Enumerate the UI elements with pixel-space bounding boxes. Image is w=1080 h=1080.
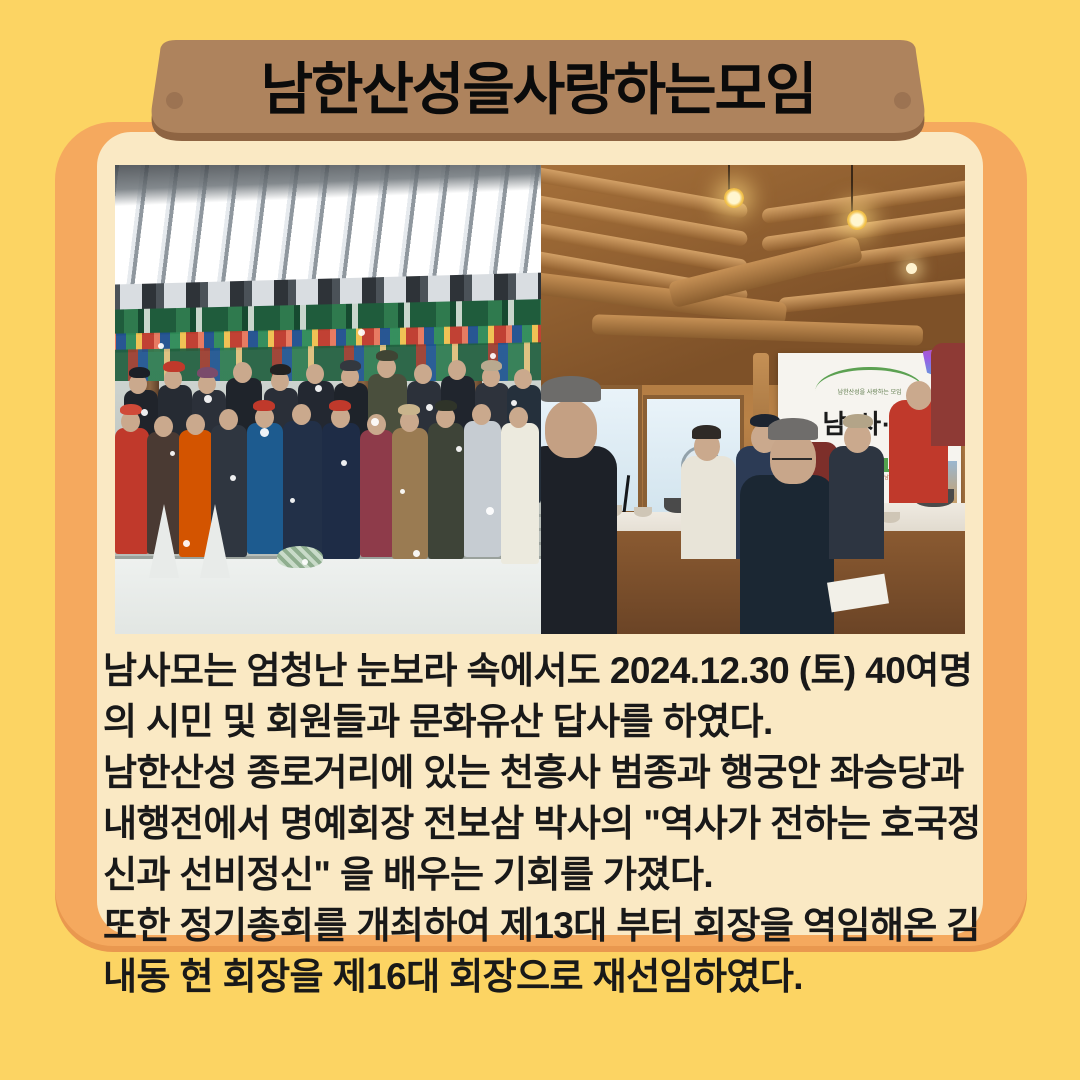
person-foreground-left xyxy=(541,446,617,634)
photo-group-in-snow xyxy=(115,165,541,634)
poster-card: 남한산성을사랑하는모임 xyxy=(0,0,1080,1080)
hair xyxy=(541,376,601,402)
light-cord xyxy=(851,165,853,212)
eyeglasses-icon xyxy=(772,458,812,467)
photo-strip: 남한산성을 사랑하는 모임 남·사·모 유네스코 세계유산 남한산성 세계유산센… xyxy=(115,165,965,634)
umbrella xyxy=(200,504,230,578)
umbrella xyxy=(149,504,179,578)
poster-title: 남한산성을사랑하는모임 xyxy=(138,40,938,140)
body-paragraph: 남사모는 엄청난 눈보라 속에서도 2024.12.30 (토) 40여명의 시… xyxy=(103,645,983,1002)
person-foreground-center xyxy=(740,475,833,634)
bundle-bag xyxy=(277,546,323,568)
title-banner: 남한산성을사랑하는모임 xyxy=(138,40,938,148)
pendant-light-icon xyxy=(847,210,867,230)
photo-hanok-meeting: 남한산성을 사랑하는 모임 남·사·모 유네스코 세계유산 남한산성 세계유산센… xyxy=(541,165,965,634)
